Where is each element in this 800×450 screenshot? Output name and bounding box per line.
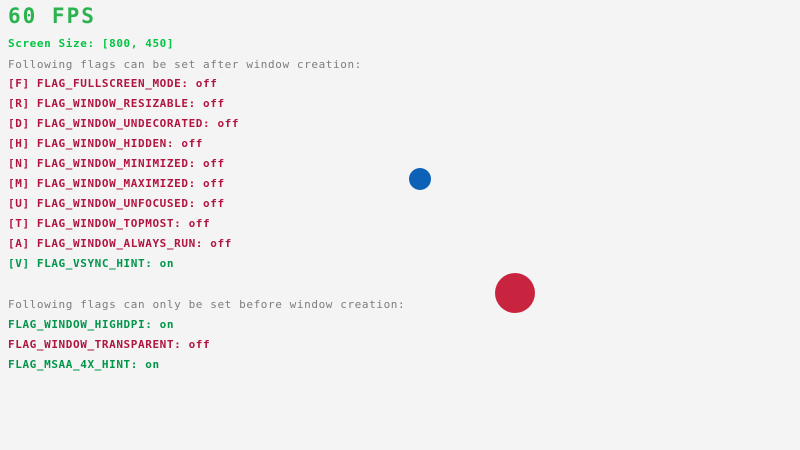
flag-row-flag-window-resizable[interactable]: [R] FLAG_WINDOW_RESIZABLE: off [8,98,225,109]
red-ball-icon [495,273,535,313]
flag-row-flag-window-minimized[interactable]: [N] FLAG_WINDOW_MINIMIZED: off [8,158,225,169]
flag-row-flag-window-maximized[interactable]: [M] FLAG_WINDOW_MAXIMIZED: off [8,178,225,189]
flag-row-flag-window-undecorated[interactable]: [D] FLAG_WINDOW_UNDECORATED: off [8,118,239,129]
blue-ball-icon [409,168,431,190]
flag-row-flag-window-hidden[interactable]: [H] FLAG_WINDOW_HIDDEN: off [8,138,203,149]
heading-flags-after-creation: Following flags can be set after window … [8,59,362,70]
screen-size-label: Screen Size: [800, 450] [8,38,174,49]
app-canvas[interactable]: 60 FPS Screen Size: [800, 450] Following… [0,0,800,450]
fps-counter: 60 FPS [8,6,96,27]
flag-row-flag-window-transparent: FLAG_WINDOW_TRANSPARENT: off [8,339,210,350]
flag-row-flag-window-topmost[interactable]: [T] FLAG_WINDOW_TOPMOST: off [8,218,210,229]
flag-row-flag-vsync-hint[interactable]: [V] FLAG_VSYNC_HINT: on [8,258,174,269]
flag-row-flag-window-always-run[interactable]: [A] FLAG_WINDOW_ALWAYS_RUN: off [8,238,232,249]
flag-row-flag-fullscreen-mode[interactable]: [F] FLAG_FULLSCREEN_MODE: off [8,78,217,89]
flag-row-flag-window-highdpi: FLAG_WINDOW_HIGHDPI: on [8,319,174,330]
flag-row-flag-window-unfocused[interactable]: [U] FLAG_WINDOW_UNFOCUSED: off [8,198,225,209]
heading-flags-before-creation: Following flags can only be set before w… [8,299,405,310]
flag-row-flag-msaa-4x-hint: FLAG_MSAA_4X_HINT: on [8,359,160,370]
